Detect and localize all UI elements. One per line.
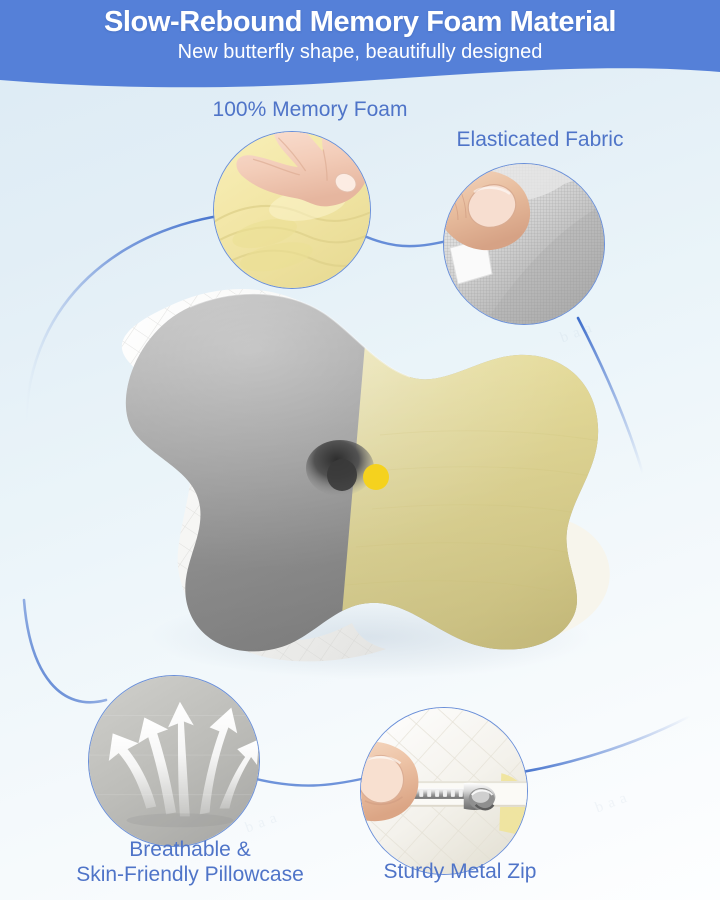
header-banner — [0, 0, 720, 95]
feature-label-breathable-pillowcase: Breathable & Skin-Friendly Pillowcase — [20, 838, 360, 888]
finger-stretching-mesh-photo — [443, 163, 605, 325]
arc-bottom-middle — [252, 778, 366, 786]
arc-lower-right — [522, 716, 690, 772]
product-pillow-image — [40, 285, 660, 685]
feature-label-memory-foam: 100% Memory Foam — [150, 98, 470, 123]
pillow-yellow-dot — [363, 464, 389, 490]
arc-top-middle — [362, 235, 452, 246]
feature-label-elasticated-fabric: Elasticated Fabric — [400, 128, 680, 153]
hand-pressing-foam-photo — [213, 131, 371, 289]
product-infographic: b a a b a a b a a b a a — [0, 0, 720, 900]
upward-airflow-arrows-icon — [88, 675, 260, 847]
banner-wave-shape — [0, 0, 720, 87]
thumb-pulling-zipper-photo — [360, 707, 528, 875]
feature-label-sturdy-metal-zip: Sturdy Metal Zip — [330, 860, 590, 885]
